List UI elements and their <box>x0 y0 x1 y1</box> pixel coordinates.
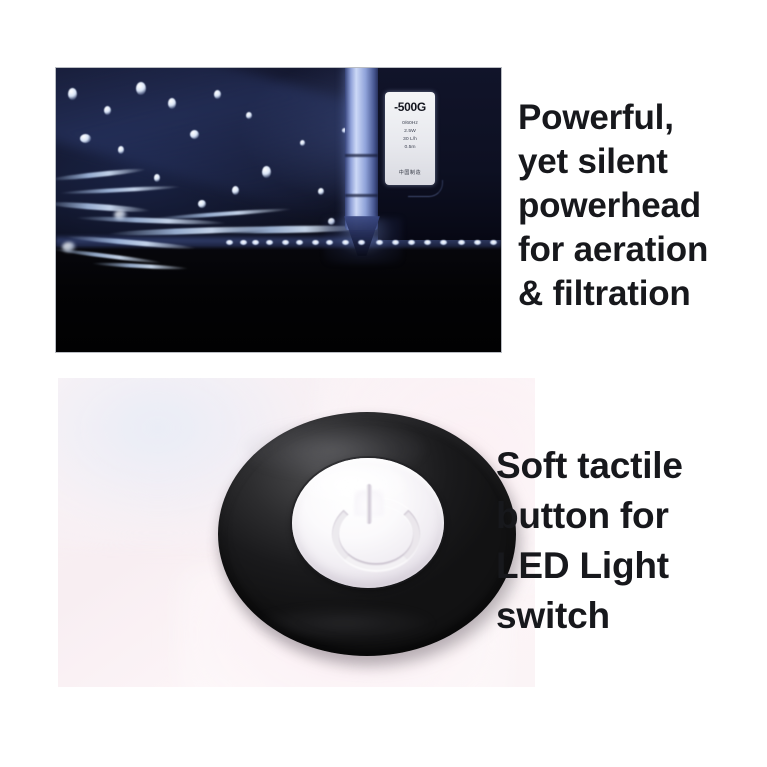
powerhead-caption: Powerful, yet silent powerhead for aerat… <box>518 96 767 316</box>
tube-seam <box>345 194 378 197</box>
water-droplet <box>168 98 176 109</box>
caption-line: LED Light <box>496 541 766 591</box>
water-droplet <box>154 174 160 182</box>
water-droplet <box>114 210 127 220</box>
water-droplet <box>136 82 146 95</box>
dark-water-mass <box>56 246 501 352</box>
caption-line: & filtration <box>518 272 767 316</box>
water-droplet <box>246 112 252 119</box>
water-droplet <box>318 188 324 195</box>
spec-line: 30 L/h <box>385 135 435 142</box>
water-droplet <box>104 106 111 115</box>
caption-line: button for <box>496 491 766 541</box>
water-droplet <box>198 200 206 208</box>
caption-line: yet silent <box>518 140 767 184</box>
caption-line: Soft tactile <box>496 441 766 491</box>
water-droplet <box>262 166 271 178</box>
spec-label-title: -500G <box>385 101 435 113</box>
waterline-droplet-row <box>226 240 498 249</box>
water-droplet <box>214 90 221 99</box>
tube-seam <box>345 154 378 157</box>
spec-line: 0/60Hz <box>385 119 435 126</box>
caption-line: Powerful, <box>518 96 767 140</box>
water-droplet <box>232 186 239 195</box>
water-droplet <box>118 146 124 154</box>
spec-label-lines: 0/60Hz 2.5W 30 L/h 0.5m <box>385 119 435 151</box>
power-icon <box>326 482 412 560</box>
water-droplet <box>68 88 77 100</box>
spec-line: 2.5W <box>385 127 435 134</box>
water-droplet <box>190 130 199 139</box>
caption-line: switch <box>496 591 766 641</box>
led-switch-caption: Soft tactile button for LED Light switch <box>496 441 766 641</box>
spec-label-footer: 中国制造 <box>385 169 435 176</box>
powerhead-outlet-tube <box>345 68 378 230</box>
bezel-highlight <box>254 606 434 640</box>
power-icon-stem <box>366 484 372 524</box>
aquarium-powerhead-underwater-photo: -500G 0/60Hz 2.5W 30 L/h 0.5m 中国制造 <box>56 68 501 352</box>
led-light-switch-button-photo <box>58 378 535 687</box>
spec-line: 0.5m <box>385 143 435 150</box>
caption-line: for aeration <box>518 228 767 272</box>
water-droplet <box>62 242 76 252</box>
caption-line: powerhead <box>518 184 767 228</box>
product-feature-infographic: -500G 0/60Hz 2.5W 30 L/h 0.5m 中国制造 Power… <box>0 0 767 767</box>
water-droplet <box>80 134 91 143</box>
water-droplet <box>300 140 305 146</box>
power-button-cap[interactable] <box>292 458 444 588</box>
spec-label: -500G 0/60Hz 2.5W 30 L/h 0.5m 中国制造 <box>385 92 435 185</box>
